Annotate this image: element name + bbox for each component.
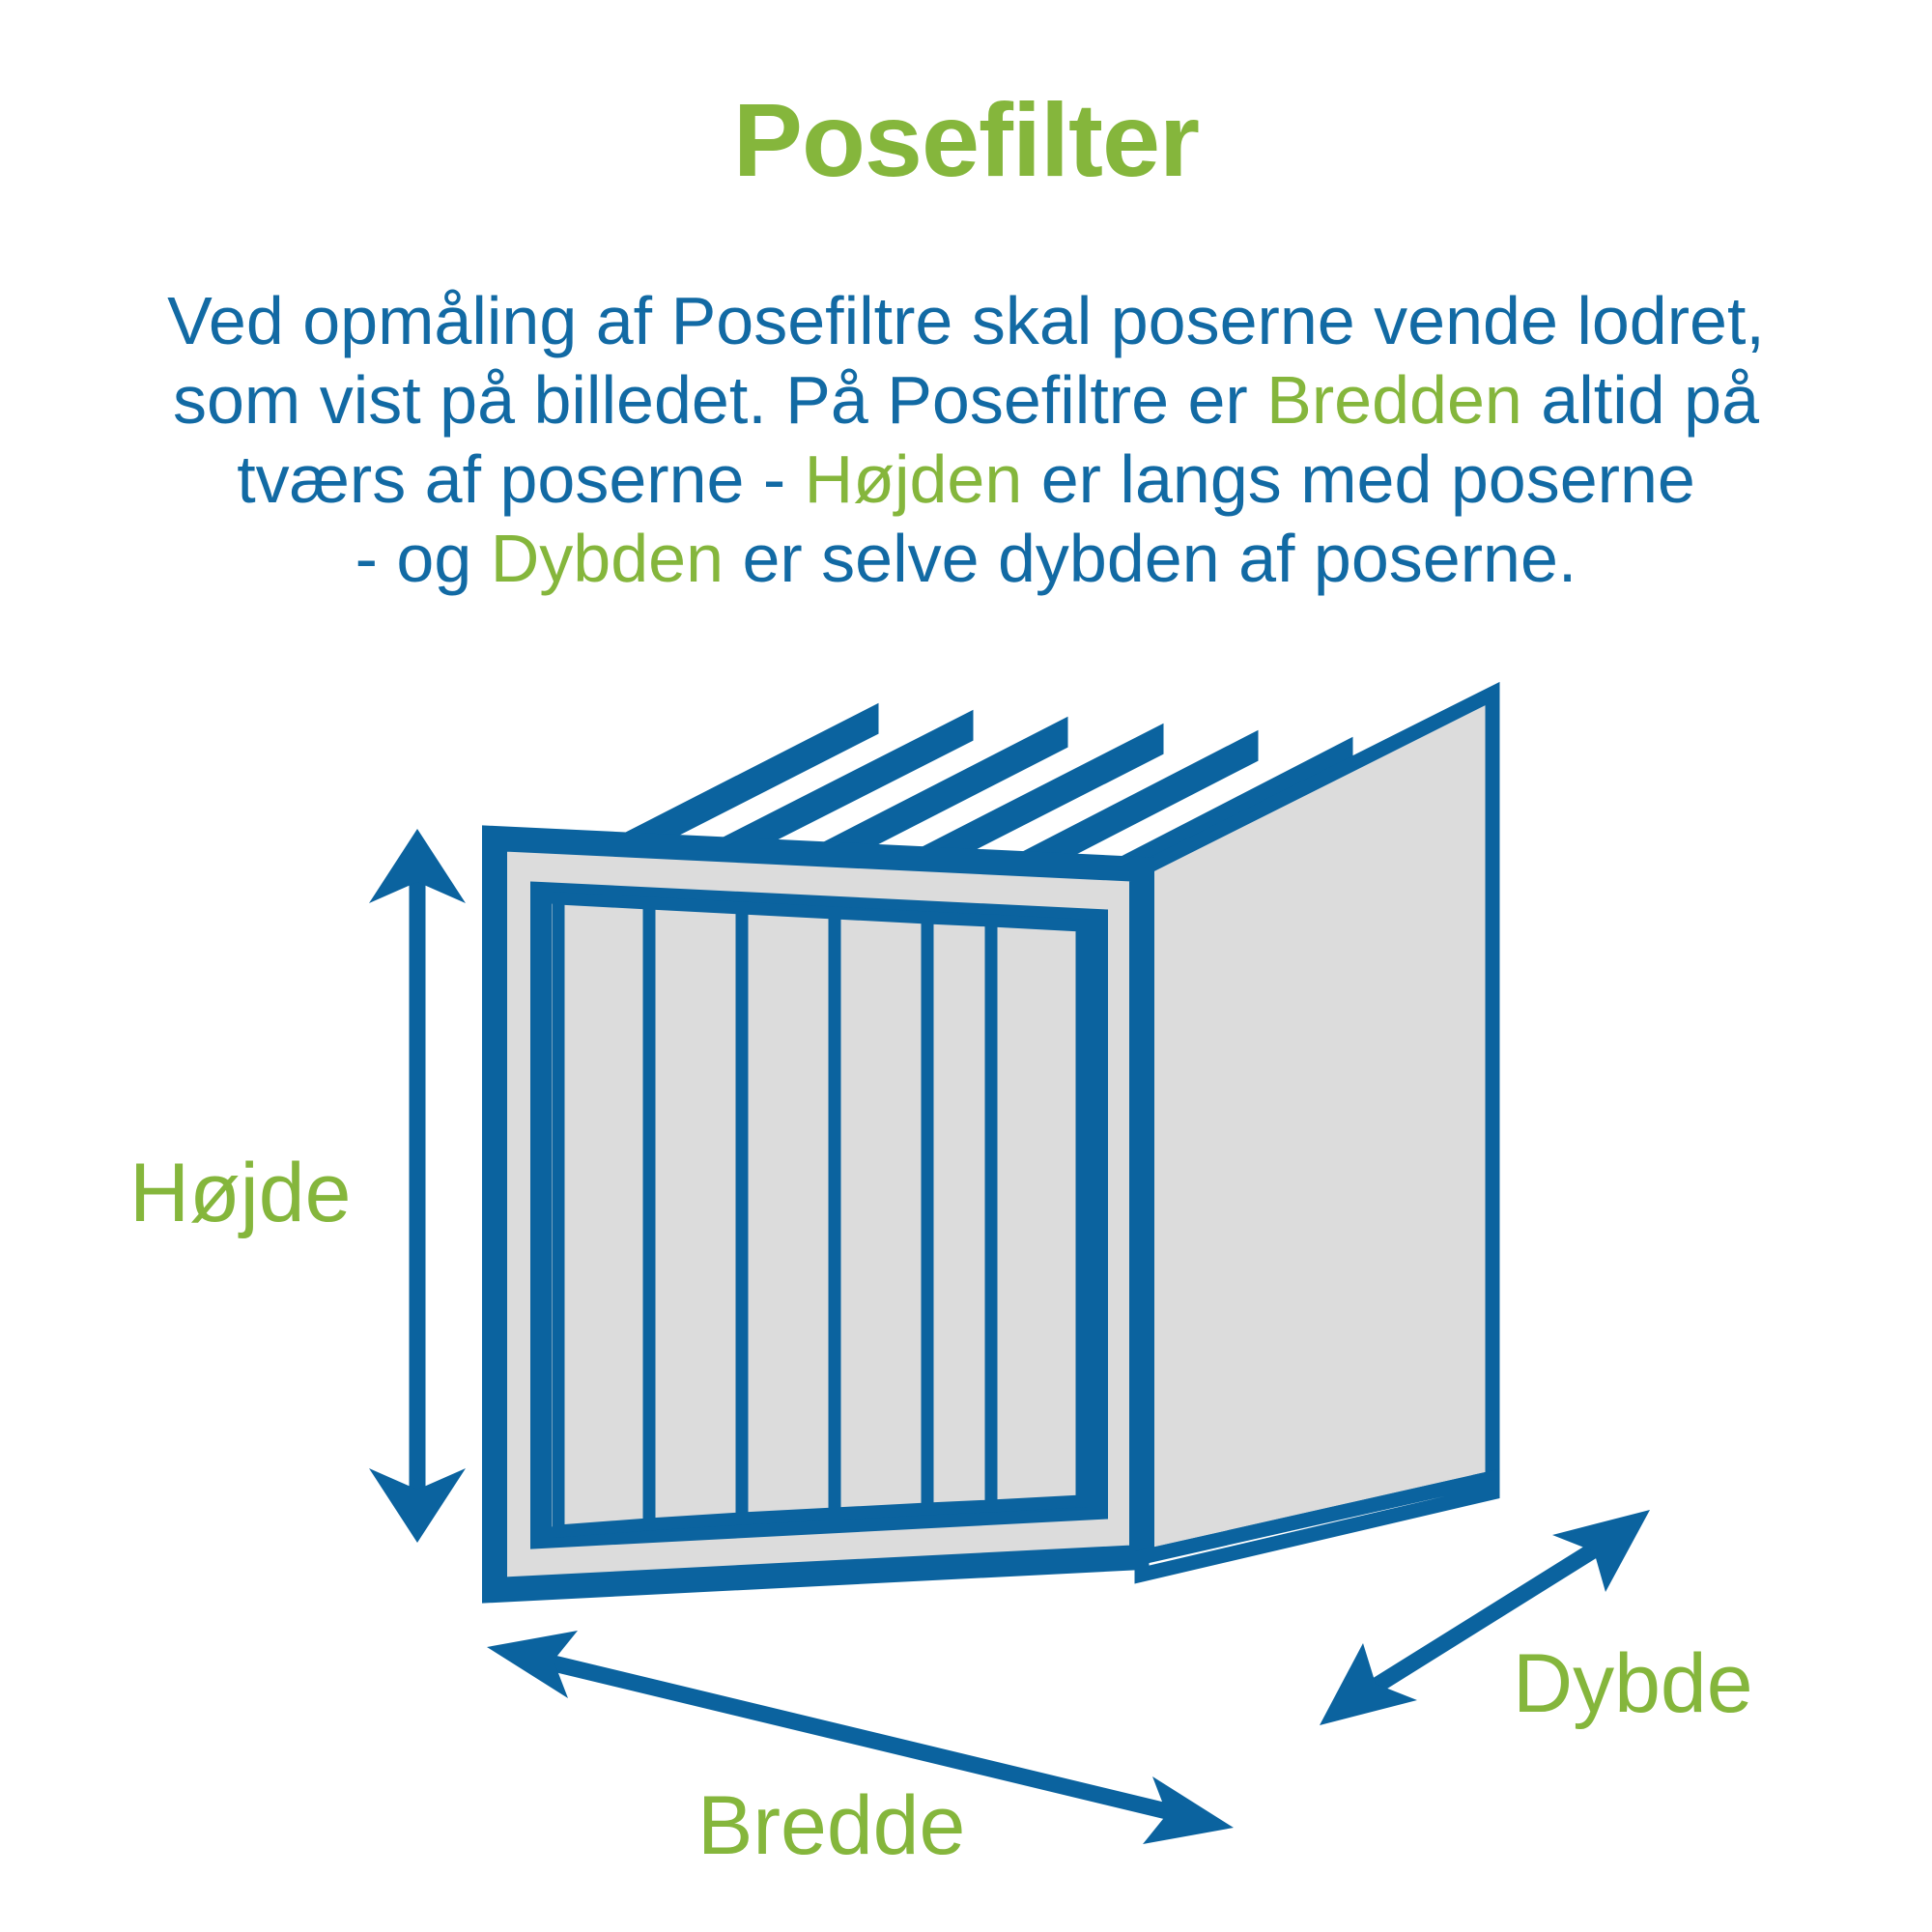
page-root: Posefilter Ved opmåling af Posefiltre sk… xyxy=(0,0,1932,1932)
bag-top-1 xyxy=(644,715,871,833)
bag-front-faces-group xyxy=(558,898,1082,1531)
dimension-label-dybde: Dybde xyxy=(1513,1642,1753,1725)
dimension-label-bredde: Bredde xyxy=(697,1784,965,1867)
dybde-arrow-head-downleft xyxy=(1320,1643,1417,1725)
bag-front-5 xyxy=(927,918,991,1509)
bag-front-3 xyxy=(742,908,835,1519)
bag-front-6 xyxy=(991,921,1082,1506)
bag-front-2 xyxy=(649,903,742,1524)
dybde-arrow-head-upright xyxy=(1552,1510,1650,1592)
bag-front-4 xyxy=(835,913,927,1514)
hojde-dimension-arrow xyxy=(369,829,466,1543)
dimension-label-hojde: Højde xyxy=(129,1151,351,1235)
bag-front-1 xyxy=(558,898,649,1531)
